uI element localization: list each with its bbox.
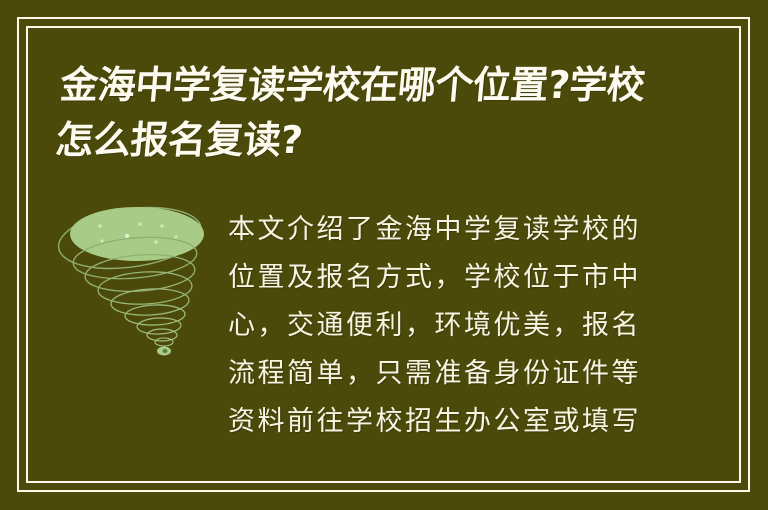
page-title: 金海中学复读学校在哪个位置?学校怎么报名复读?	[53, 58, 663, 168]
body-paragraph: 本文介绍了金海中学复读学校的位置及报名方式，学校位于市中心，交通便利，环境优美，…	[228, 206, 660, 446]
tornado-speckle	[174, 235, 177, 238]
poster-canvas: 金海中学复读学校在哪个位置?学校怎么报名复读?	[0, 0, 768, 510]
tornado-illustration	[52, 196, 222, 371]
tornado-speckle	[160, 224, 164, 228]
tornado-speckle	[138, 222, 142, 226]
tornado-cap	[70, 207, 204, 261]
tornado-speckle	[98, 224, 102, 228]
tornado-speckle	[100, 239, 103, 242]
tornado-ring	[147, 329, 177, 341]
tornado-speckle	[125, 234, 129, 238]
tornado-speckle	[154, 240, 158, 244]
tornado-ring	[155, 338, 173, 346]
tornado-tip-center	[163, 349, 168, 353]
